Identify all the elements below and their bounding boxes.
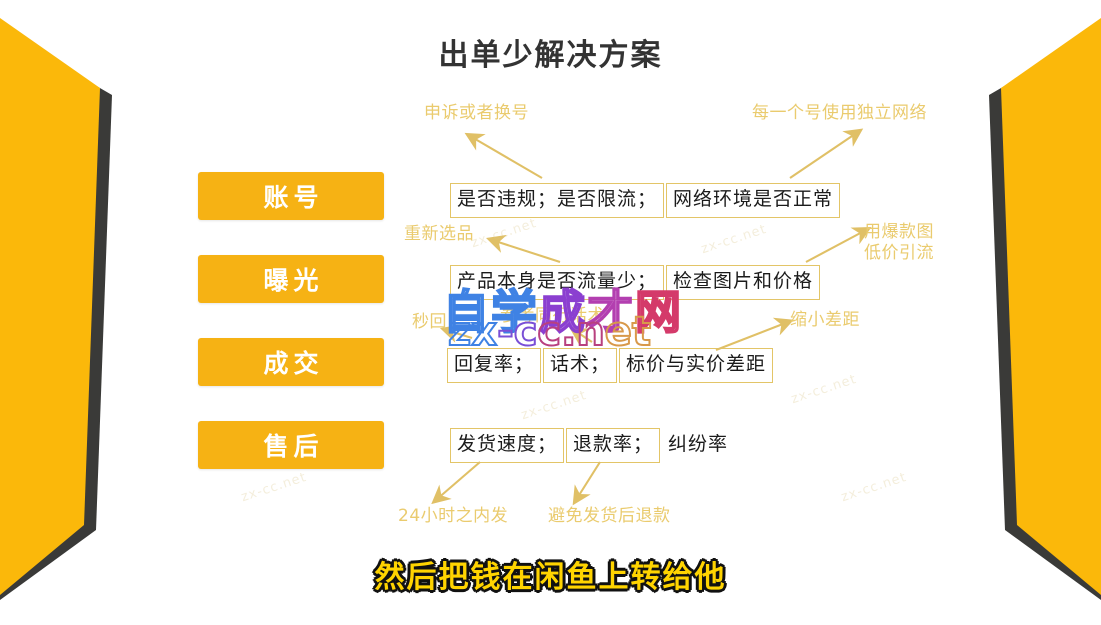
annotation-hot-image: 用爆款图 低价引流 [864,222,934,265]
annotation-narrow-gap: 缩小差距 [790,310,860,331]
category-button-account[interactable]: 账号 [198,172,384,220]
page-title: 出单少解决方案 [0,30,1101,74]
keypoint-plain: 纠纷率 [660,429,732,462]
annotation-hot-image-line2: 低价引流 [864,243,934,264]
keypoint-box: 检查图片和价格 [666,265,820,300]
keypoint-row-aftersale: 发货速度； 退款率； 纠纷率 [450,428,732,463]
background-watermark: zx-cc.net [469,216,538,251]
arrow-to-peer-script [574,330,592,342]
bottom-caption: 然后把钱在闲鱼上转给他 [0,552,1101,596]
right-corner-decoration [961,0,1101,625]
annotation-network: 每一个号使用独立网络 [752,103,927,124]
background-watermark: zx-cc.net [839,470,908,505]
keypoint-row-account: 是否违规；是否限流； 网络环境是否正常 [450,183,840,218]
background-watermark: zx-cc.net [699,222,768,257]
keypoint-row-deal: 回复率； 话术； 标价与实价差距 [447,348,773,383]
category-button-exposure[interactable]: 曝光 [198,255,384,303]
category-button-aftersale[interactable]: 售后 [198,421,384,469]
keypoint-box: 退款率； [566,428,660,463]
annotation-ship-24h: 24小时之内发 [398,506,508,527]
arrow-to-appeal [470,136,542,178]
keypoint-box: 是否违规；是否限流； [450,183,664,218]
keypoint-box: 网络环境是否正常 [666,183,840,218]
arrow-to-ship-24h [436,462,480,500]
arrow-to-reselect [492,240,560,262]
annotation-appeal: 申诉或者换号 [424,103,529,124]
annotation-hot-image-line1: 用爆款图 [864,222,934,243]
left-corner-decoration [0,0,140,625]
annotation-instant-reply: 秒回 [412,312,447,333]
annotation-reselect: 重新选品 [404,224,474,245]
arrow-to-instant-reply [446,330,472,338]
slide-canvas: 出单少解决方案 账号 曝光 成交 售后 是否违规；是否限流； 网络环境是否正常 … [0,0,1101,625]
background-watermark: zx-cc.net [239,470,308,505]
arrow-to-avoid-refund [576,462,600,500]
keypoint-box: 回复率； [447,348,541,383]
annotation-avoid-refund: 避免发货后退款 [548,506,671,527]
keypoint-box: 标价与实价差距 [619,348,773,383]
category-button-deal[interactable]: 成交 [198,338,384,386]
arrow-to-hot-image [806,230,866,262]
keypoint-box: 发货速度； [450,428,564,463]
keypoint-box: 话术； [543,348,617,383]
keypoint-box: 产品本身是否流量少； [450,265,664,300]
arrow-to-narrow-gap [716,322,788,350]
keypoint-row-exposure: 产品本身是否流量少； 检查图片和价格 [450,265,820,300]
background-watermark: zx-cc.net [789,372,858,407]
arrow-to-network [790,132,858,178]
background-watermark: zx-cc.net [519,388,588,423]
annotation-peer-script: 参考同行话术 [500,306,605,327]
